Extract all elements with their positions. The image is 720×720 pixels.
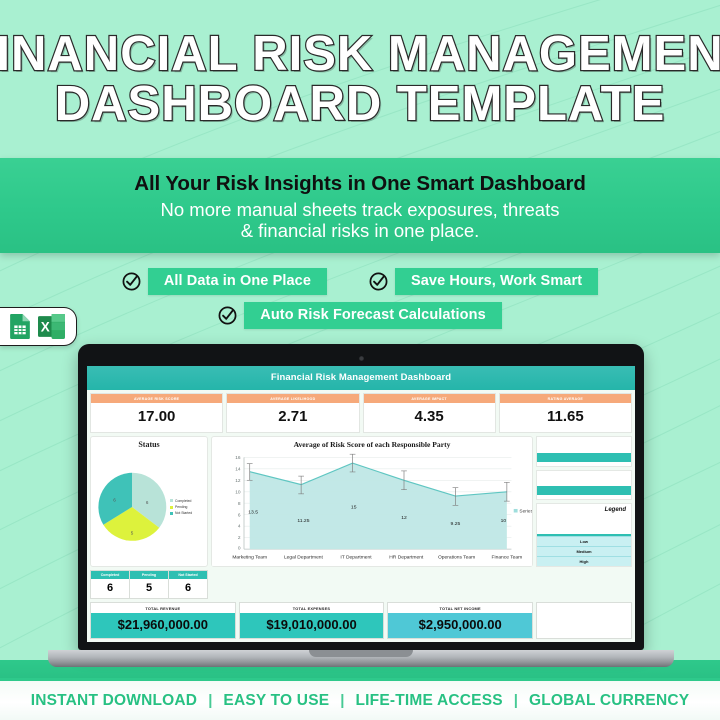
totals-row: TOTAL REVENUE $21,960,000.00 TOTAL EXPEN… [87,602,635,642]
side-placeholder-2 [536,470,632,500]
svg-text:14: 14 [235,467,241,472]
dashboard: Financial Risk Management Dashboard AVER… [87,366,635,642]
excel-icon: X [38,313,65,340]
kpi-card-average-risk-score: AVERAGE RISK SCORE 17.00 [90,393,223,433]
app-compatibility-badge: X [0,307,77,346]
status-pie-legend: Completed Pending Not Started [170,499,192,516]
svg-text:Legal Department: Legal Department [284,555,324,560]
feature-pill-1[interactable]: All Data in One Place [122,268,327,295]
kpi-value: 4.35 [364,403,495,432]
svg-text:Series1: Series1 [519,509,532,514]
legend-label: Pending [175,505,187,509]
hero-title-line-2: DASHBOARD TEMPLATE [55,80,666,128]
area-chart-title: Average of Risk Score of each Responsibl… [212,437,532,449]
status-header-completed: Completed [91,571,129,579]
subtitle-body-line-2: & financial risks in one place. [241,220,480,241]
total-value: $21,960,000.00 [91,613,235,638]
svg-text:13.5: 13.5 [248,510,258,516]
subtitle-body: No more manual sheets track exposures, t… [161,199,560,241]
dashboard-middle-row: Status 6 5 [87,433,635,570]
status-value-not-started: 6 [169,579,207,598]
total-label: TOTAL EXPENSES [240,603,384,613]
svg-text:15: 15 [351,505,357,511]
total-value: $2,950,000.00 [388,613,532,638]
svg-text:IT Department: IT Department [340,555,372,560]
status-header-not-started: Not Started [169,571,207,579]
svg-text:16: 16 [235,455,241,460]
kpi-value: 2.71 [227,403,358,432]
legend-title: Legend [605,507,626,513]
risk-legend-panel: Legend Low Medium High [536,503,632,567]
webcam-icon [359,356,364,361]
legend-item-not-started: Not Started [170,511,192,515]
dashboard-side-panel: Legend Low Medium High [536,436,632,567]
kpi-card-rating-average: RATING AVERAGE 11.65 [499,393,632,433]
kpi-label: AVERAGE IMPACT [364,394,495,403]
svg-text:2: 2 [238,536,241,541]
kpi-value: 17.00 [91,403,222,432]
legend-label: Completed [175,499,191,503]
status-count-row: Completed 6 Pending 5 Not Started 6 [87,570,635,602]
svg-text:HR Department: HR Department [389,555,424,560]
feature-pill-group: All Data in One Place Save Hours, Work S… [0,268,720,329]
subtitle-heading: All Your Risk Insights in One Smart Dash… [134,172,586,196]
svg-text:12: 12 [401,515,407,521]
kpi-card-average-likelihood: AVERAGE LIKELIHOOD 2.71 [226,393,359,433]
laptop-screen: Financial Risk Management Dashboard AVER… [87,366,635,642]
dashboard-title: Financial Risk Management Dashboard [87,366,635,390]
kpi-label: AVERAGE RISK SCORE [91,394,222,403]
legend-row-high: High [537,556,631,566]
footer-bar: INSTANT DOWNLOAD | EASY TO USE | LIFE-TI… [0,678,720,720]
svg-text:Marketing Team: Marketing Team [232,555,267,560]
feature-pill-2-label: Save Hours, Work Smart [395,268,598,295]
status-header-pending: Pending [130,571,168,579]
svg-text:10: 10 [235,490,241,495]
feature-pill-3[interactable]: Auto Risk Forecast Calculations [218,302,502,329]
footer-separator: | [514,692,518,709]
risk-score-area-chart: 16 14 12 10 8 6 4 2 0 [212,449,532,566]
kpi-label: RATING AVERAGE [500,394,631,403]
check-circle-icon [369,272,388,291]
check-circle-icon [218,306,237,325]
footer-item-global-currency: GLOBAL CURRENCY [529,692,689,710]
total-value: $19,010,000.00 [240,613,384,638]
svg-text:Operations Team: Operations Team [438,555,475,560]
svg-text:11.25: 11.25 [297,518,310,524]
svg-text:9.25: 9.25 [451,522,461,528]
laptop-lid: Financial Risk Management Dashboard AVER… [78,344,644,650]
side-placeholder-1 [536,436,632,466]
poster-canvas: FINANCIAL RISK MANAGEMENT DASHBOARD TEMP… [0,0,720,720]
hero-title-line-1: FINANCIAL RISK MANAGEMENT [0,30,720,78]
total-card-expenses: TOTAL EXPENSES $19,010,000.00 [239,602,385,639]
feature-pill-3-label: Auto Risk Forecast Calculations [244,302,502,329]
legend-item-completed: Completed [170,499,192,503]
check-circle-icon [122,272,141,291]
total-card-revenue: TOTAL REVENUE $21,960,000.00 [90,602,236,639]
subtitle-band: All Your Risk Insights in One Smart Dash… [0,158,720,253]
footer-separator: | [340,692,344,709]
total-card-net-income: TOTAL NET INCOME $2,950,000.00 [387,602,533,639]
feature-pill-1-label: All Data in One Place [148,268,327,295]
footer-separator: | [208,692,212,709]
status-value-completed: 6 [91,579,129,598]
laptop-mockup: Financial Risk Management Dashboard AVER… [78,344,644,667]
legend-label: Not Started [175,511,192,515]
status-value-pending: 5 [130,579,168,598]
status-chart-title: Status [91,437,207,450]
kpi-label: AVERAGE LIKELIHOOD [227,394,358,403]
svg-text:8: 8 [238,501,241,506]
hero-title-block: FINANCIAL RISK MANAGEMENT DASHBOARD TEMP… [0,0,720,158]
status-pie-chart: 6 5 6 [94,469,170,545]
legend-row-low: Low [537,536,631,546]
kpi-card-average-impact: AVERAGE IMPACT 4.35 [363,393,496,433]
legend-row-medium: Medium [537,546,631,556]
total-label: TOTAL REVENUE [91,603,235,613]
total-label: TOTAL NET INCOME [388,603,532,613]
subtitle-body-line-1: No more manual sheets track exposures, t… [161,199,560,220]
svg-text:X: X [41,320,50,335]
svg-text:12: 12 [235,478,241,483]
svg-text:Finance Team: Finance Team [492,555,523,560]
risk-score-area-card: Average of Risk Score of each Responsibl… [211,436,533,567]
svg-text:6: 6 [238,513,241,518]
footer-item-instant-download: INSTANT DOWNLOAD [31,692,198,710]
svg-text:10: 10 [501,518,507,524]
svg-text:0: 0 [238,546,241,551]
legend-item-pending: Pending [170,505,192,509]
google-sheets-icon [8,313,33,340]
laptop-base [48,650,674,667]
kpi-row: AVERAGE RISK SCORE 17.00 AVERAGE LIKELIH… [87,390,635,433]
kpi-value: 11.65 [500,403,631,432]
feature-pill-2[interactable]: Save Hours, Work Smart [369,268,598,295]
footer-item-easy-to-use: EASY TO USE [223,692,329,710]
footer-item-life-time-access: LIFE-TIME ACCESS [355,692,502,710]
svg-text:4: 4 [238,524,241,529]
status-pie-card: Status 6 5 [90,436,208,567]
